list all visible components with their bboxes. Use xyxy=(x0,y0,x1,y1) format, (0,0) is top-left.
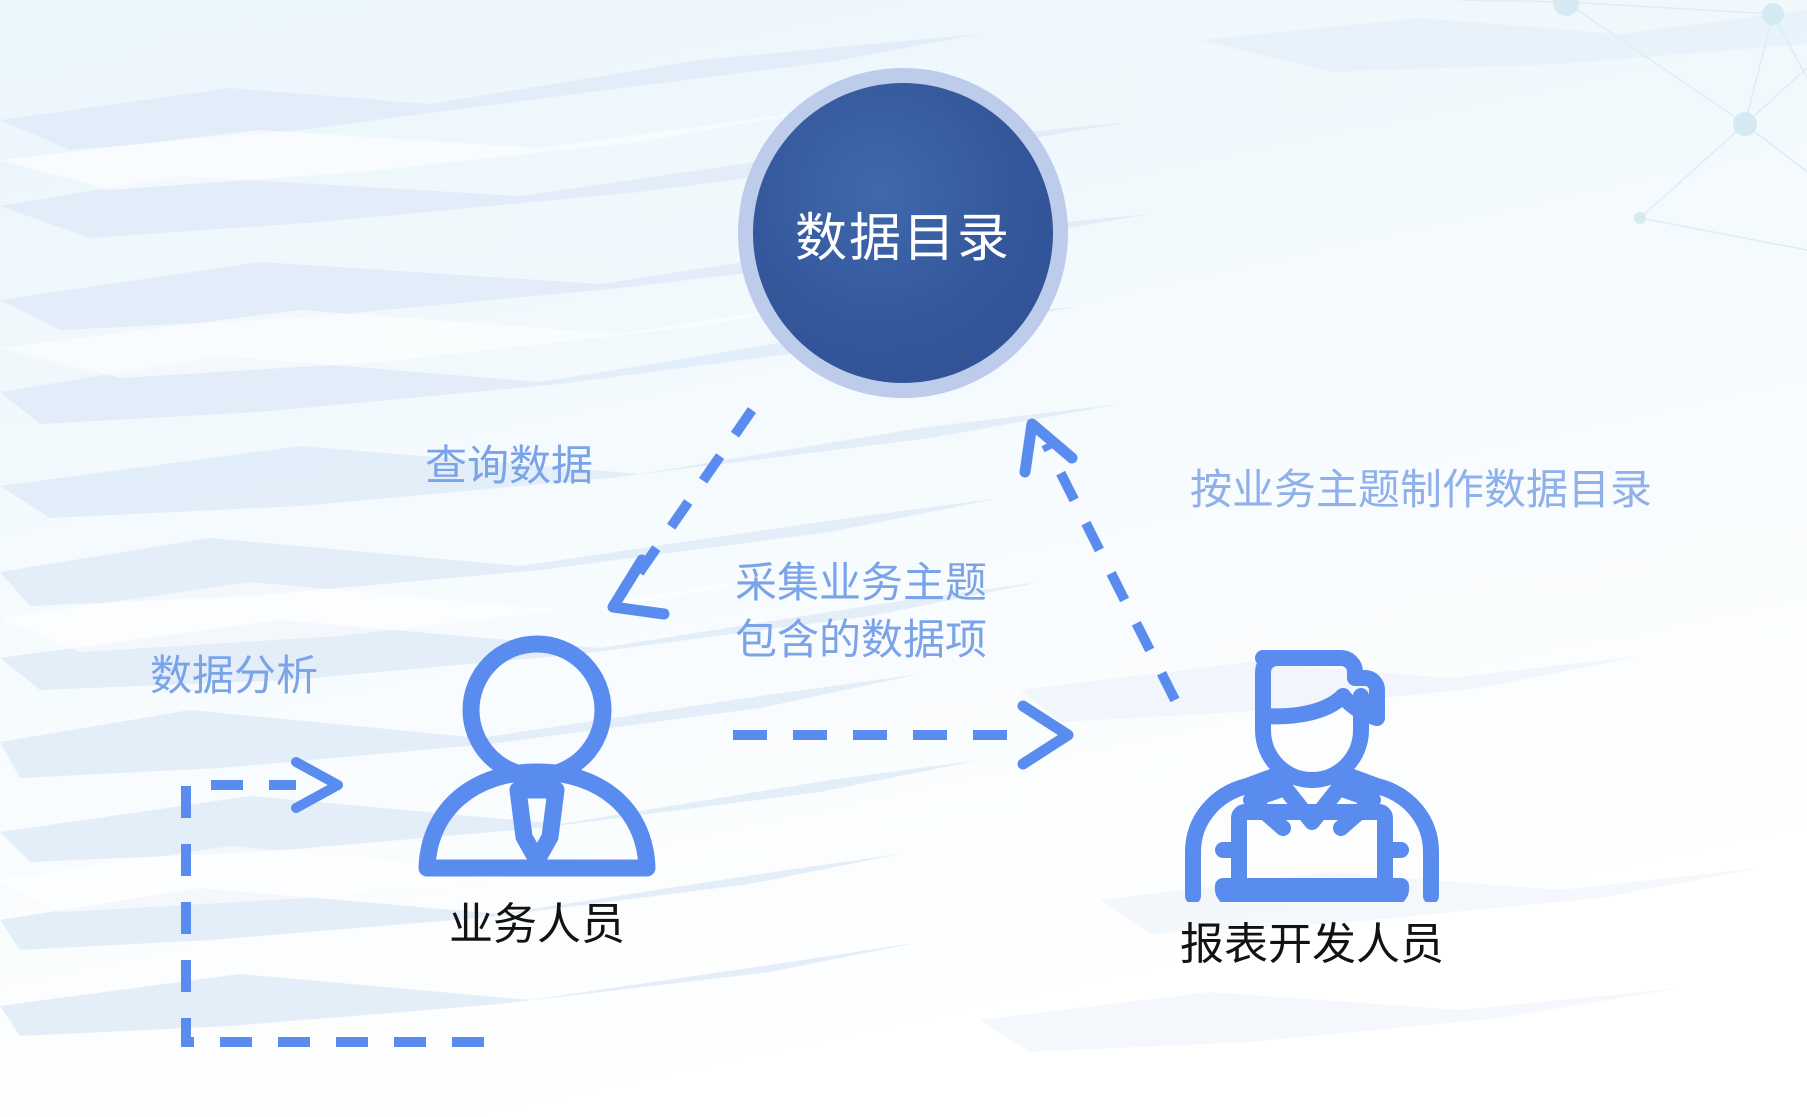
report-developer-icon xyxy=(1167,612,1457,902)
edge-label-query: 查询数据 xyxy=(425,438,593,495)
edge-label-analysis: 数据分析 xyxy=(150,648,318,705)
data-catalog-label: 数据目录 xyxy=(795,196,1011,271)
actor-report-developer-caption: 报表开发人员 xyxy=(1180,908,1444,972)
data-catalog-node[interactable]: 数据目录 xyxy=(738,68,1068,398)
diagram-canvas: 数据目录 查询数据 数据分析 采集业务主题 包含的数据项 按业务主题制作数据目录… xyxy=(0,0,1807,1117)
edge-label-catalog: 按业务主题制作数据目录 xyxy=(1190,462,1652,519)
actor-business-person[interactable]: 业务人员 xyxy=(392,632,682,952)
edge-collect-arrow xyxy=(733,706,1068,764)
edge-label-collect-line1: 采集业务主题 xyxy=(735,555,1035,612)
edge-query-arrow xyxy=(613,410,752,614)
business-person-icon xyxy=(413,632,661,882)
edge-label-collect-line2: 包含的数据项 xyxy=(735,612,1035,669)
actor-report-developer[interactable]: 报表开发人员 xyxy=(1152,612,1472,972)
edge-label-collect: 采集业务主题 包含的数据项 xyxy=(735,555,1035,668)
actor-business-person-caption: 业务人员 xyxy=(449,888,625,952)
